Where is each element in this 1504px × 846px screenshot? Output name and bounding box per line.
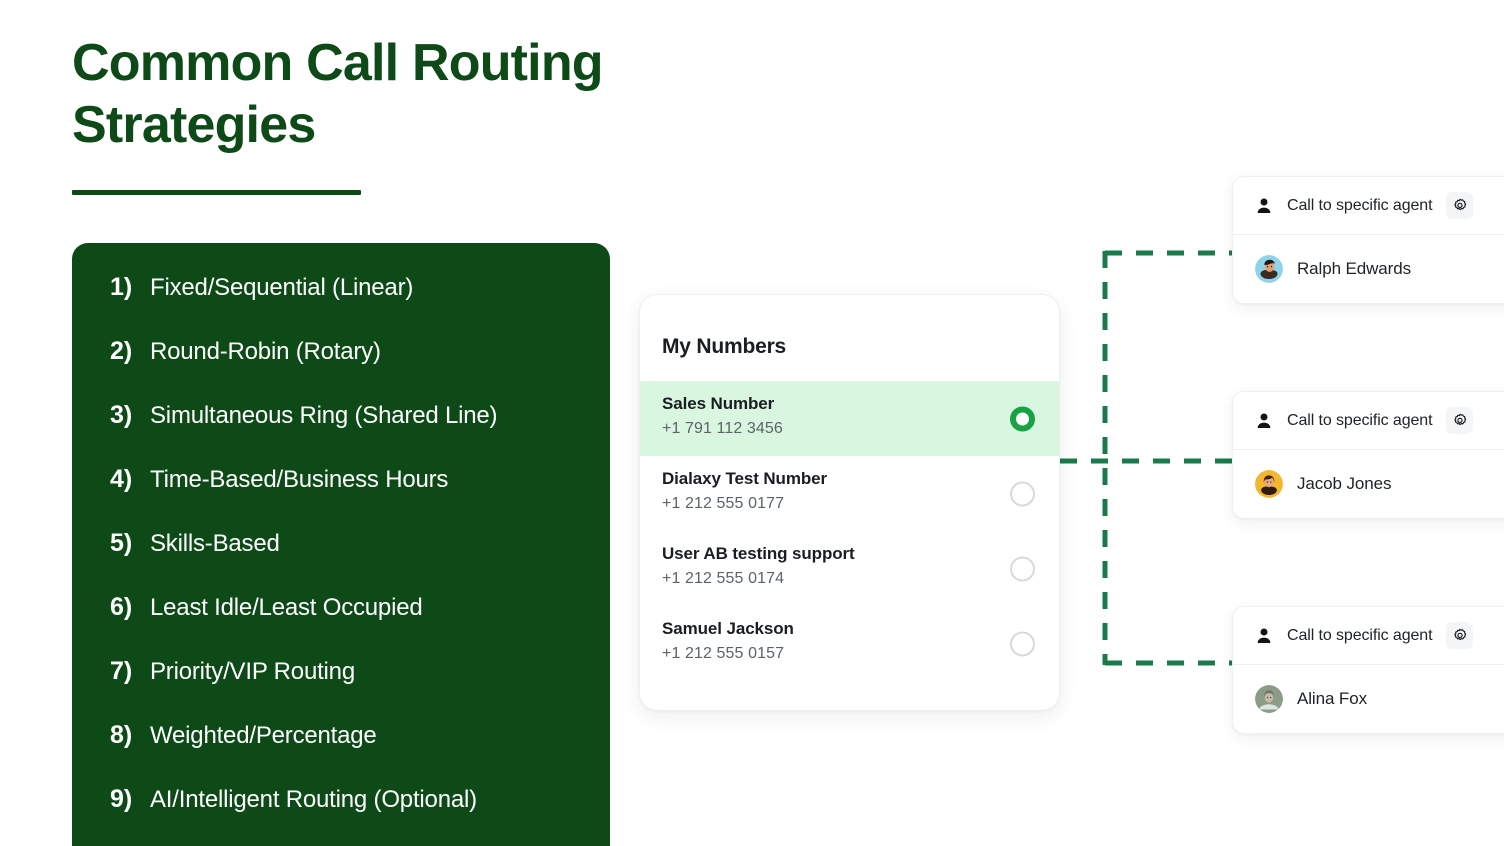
list-item-label: Round-Robin (Rotary) bbox=[150, 338, 381, 366]
list-item: 6) Least Idle/Least Occupied bbox=[72, 593, 610, 657]
number-row-name: Dialaxy Test Number bbox=[662, 469, 1059, 489]
list-item-number: 6) bbox=[110, 593, 150, 622]
page-title: Common Call Routing Strategies bbox=[72, 32, 712, 156]
agent-card: Call to specific agent Ralph Edw bbox=[1232, 176, 1504, 304]
agent-card-body[interactable]: Ralph Edwards bbox=[1233, 235, 1504, 303]
slide-canvas: Common Call Routing Strategies 1) Fixed/… bbox=[0, 0, 1504, 846]
agent-card-header-label: Call to specific agent bbox=[1287, 627, 1432, 645]
agent-card-body[interactable]: Alina Fox bbox=[1233, 665, 1504, 733]
gear-icon-glyph bbox=[1452, 628, 1468, 644]
gear-icon[interactable] bbox=[1446, 622, 1473, 649]
list-item-label: AI/Intelligent Routing (Optional) bbox=[150, 786, 477, 814]
list-item-number: 5) bbox=[110, 529, 150, 558]
list-item: 5) Skills-Based bbox=[72, 529, 610, 593]
agent-card-body[interactable]: Jacob Jones bbox=[1233, 450, 1504, 518]
list-item: 7) Priority/VIP Routing bbox=[72, 657, 610, 721]
list-item: 3) Simultaneous Ring (Shared Line) bbox=[72, 401, 610, 465]
list-item-number: 4) bbox=[110, 465, 150, 494]
person-icon bbox=[1255, 412, 1273, 430]
number-row-value: +1 791 112 3456 bbox=[662, 420, 1059, 438]
number-row[interactable]: Samuel Jackson +1 212 555 0157 bbox=[640, 606, 1059, 681]
list-item-label: Priority/VIP Routing bbox=[150, 658, 355, 686]
list-item-label: Simultaneous Ring (Shared Line) bbox=[150, 402, 497, 430]
list-item-number: 7) bbox=[110, 657, 150, 686]
avatar-image bbox=[1255, 470, 1283, 498]
list-item: 2) Round-Robin (Rotary) bbox=[72, 337, 610, 401]
agent-card-header-label: Call to specific agent bbox=[1287, 197, 1432, 215]
agent-card: Call to specific agent Jacob Jon bbox=[1232, 391, 1504, 519]
agent-card-header[interactable]: Call to specific agent bbox=[1233, 392, 1504, 450]
number-row-name: User AB testing support bbox=[662, 544, 1059, 564]
agent-name: Ralph Edwards bbox=[1297, 259, 1411, 279]
avatar bbox=[1255, 255, 1283, 283]
gear-icon-glyph bbox=[1452, 198, 1468, 214]
number-row-value: +1 212 555 0177 bbox=[662, 495, 1059, 513]
list-item-number: 8) bbox=[110, 721, 150, 750]
avatar-image bbox=[1255, 685, 1283, 713]
title-underline-rule bbox=[72, 190, 361, 195]
number-row[interactable]: Sales Number +1 791 112 3456 bbox=[640, 381, 1059, 456]
number-row-radio[interactable] bbox=[1010, 556, 1035, 581]
number-row-value: +1 212 555 0157 bbox=[662, 645, 1059, 663]
list-item-number: 9) bbox=[110, 785, 150, 814]
agent-card-header[interactable]: Call to specific agent bbox=[1233, 607, 1504, 665]
list-item: 1) Fixed/Sequential (Linear) bbox=[72, 273, 610, 337]
number-row-name: Samuel Jackson bbox=[662, 619, 1059, 639]
number-row[interactable]: Dialaxy Test Number +1 212 555 0177 bbox=[640, 456, 1059, 531]
avatar bbox=[1255, 685, 1283, 713]
list-item-number: 2) bbox=[110, 337, 150, 366]
list-item-label: Weighted/Percentage bbox=[150, 722, 377, 750]
list-item-label: Skills-Based bbox=[150, 530, 280, 558]
number-row-radio[interactable] bbox=[1010, 406, 1035, 431]
agent-card-header[interactable]: Call to specific agent bbox=[1233, 177, 1504, 235]
number-row-value: +1 212 555 0174 bbox=[662, 570, 1059, 588]
agent-card-header-label: Call to specific agent bbox=[1287, 412, 1432, 430]
my-numbers-title: My Numbers bbox=[640, 295, 1059, 359]
list-item: 8) Weighted/Percentage bbox=[72, 721, 610, 785]
gear-icon[interactable] bbox=[1446, 407, 1473, 434]
list-item-label: Least Idle/Least Occupied bbox=[150, 594, 423, 622]
list-item-number: 3) bbox=[110, 401, 150, 430]
person-icon bbox=[1255, 627, 1273, 645]
list-item-label: Fixed/Sequential (Linear) bbox=[150, 274, 413, 302]
agent-card: Call to specific agent Alina Fox bbox=[1232, 606, 1504, 734]
my-numbers-card: My Numbers Sales Number +1 791 112 3456 … bbox=[639, 294, 1060, 711]
list-item-label: Time-Based/Business Hours bbox=[150, 466, 448, 494]
title-block: Common Call Routing Strategies bbox=[72, 32, 712, 156]
number-row-radio[interactable] bbox=[1010, 631, 1035, 656]
avatar bbox=[1255, 470, 1283, 498]
avatar-image bbox=[1255, 255, 1283, 283]
list-item: 4) Time-Based/Business Hours bbox=[72, 465, 610, 529]
list-item-number: 1) bbox=[110, 273, 150, 302]
number-row-radio[interactable] bbox=[1010, 481, 1035, 506]
gear-icon-glyph bbox=[1452, 413, 1468, 429]
agent-name: Alina Fox bbox=[1297, 689, 1367, 709]
number-row[interactable]: User AB testing support +1 212 555 0174 bbox=[640, 531, 1059, 606]
agent-name: Jacob Jones bbox=[1297, 474, 1391, 494]
strategies-panel: 1) Fixed/Sequential (Linear) 2) Round-Ro… bbox=[72, 243, 610, 846]
list-item: 9) AI/Intelligent Routing (Optional) bbox=[72, 785, 610, 846]
gear-icon[interactable] bbox=[1446, 192, 1473, 219]
my-numbers-list: Sales Number +1 791 112 3456 Dialaxy Tes… bbox=[640, 381, 1059, 681]
person-icon bbox=[1255, 197, 1273, 215]
number-row-name: Sales Number bbox=[662, 394, 1059, 414]
